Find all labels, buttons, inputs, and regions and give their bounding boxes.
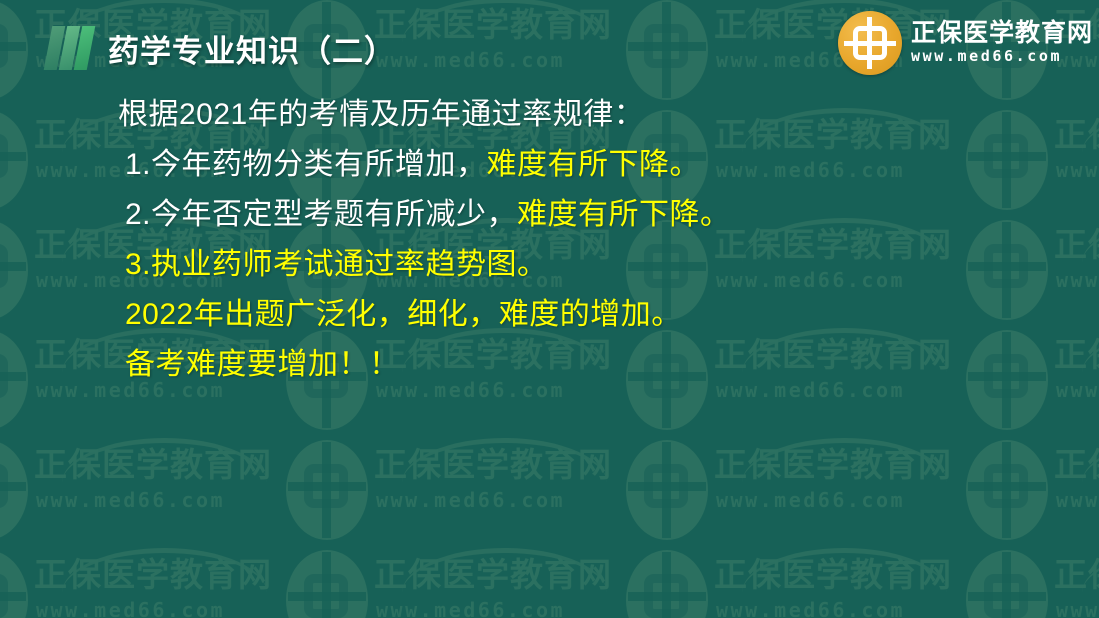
body-line-conclusion-2: 备考难度要增加！！ bbox=[125, 340, 1018, 390]
text-segment: 难度有所下降。 bbox=[487, 148, 701, 181]
text-segment: 2.今年否定型考题有所减少， bbox=[125, 198, 517, 231]
medical-cross-circle-icon bbox=[838, 11, 902, 75]
text-segment: 2022年出题广泛化，细化，难度的增加。 bbox=[125, 298, 682, 331]
brand-logo: 正保医学教育网 www.med66.com bbox=[838, 6, 1093, 80]
body-line-point-3: 3.执业药师考试通过率趋势图。 bbox=[125, 240, 1018, 290]
body-line-conclusion-1: 2022年出题广泛化，细化，难度的增加。 bbox=[125, 290, 1018, 340]
brand-name: 正保医学教育网 bbox=[911, 19, 1093, 46]
body-line-intro: 根据2021年的考情及历年通过率规律： bbox=[118, 90, 1018, 140]
presentation-slide: 正保医学教育网www.med66.com正保医学教育网www.med66.com… bbox=[0, 0, 1099, 618]
brand-text-block: 正保医学教育网 www.med66.com bbox=[911, 19, 1093, 66]
brand-url: www.med66.com bbox=[911, 46, 1093, 66]
slide-title-row: 药学专业知识（二） bbox=[46, 24, 396, 72]
text-segment: 难度有所下降。 bbox=[517, 198, 731, 231]
title-decoration-bars-icon bbox=[46, 26, 98, 70]
page-title: 药学专业知识（二） bbox=[108, 26, 396, 71]
slide-body: 根据2021年的考情及历年通过率规律：1.今年药物分类有所增加，难度有所下降。2… bbox=[118, 90, 1018, 390]
text-segment: 3.执业药师考试通过率趋势图。 bbox=[125, 248, 548, 281]
body-line-point-1: 1.今年药物分类有所增加，难度有所下降。 bbox=[125, 140, 1018, 190]
text-segment: 根据2021年的考情及历年通过率规律： bbox=[118, 98, 644, 131]
slide-content: 药学专业知识（二） 正保医学教育网 www.med66.com 根据2021年的… bbox=[0, 0, 1099, 618]
body-line-point-2: 2.今年否定型考题有所减少，难度有所下降。 bbox=[125, 190, 1018, 240]
text-segment: 备考难度要增加！！ bbox=[125, 348, 400, 381]
text-segment: 1.今年药物分类有所增加， bbox=[125, 148, 487, 181]
